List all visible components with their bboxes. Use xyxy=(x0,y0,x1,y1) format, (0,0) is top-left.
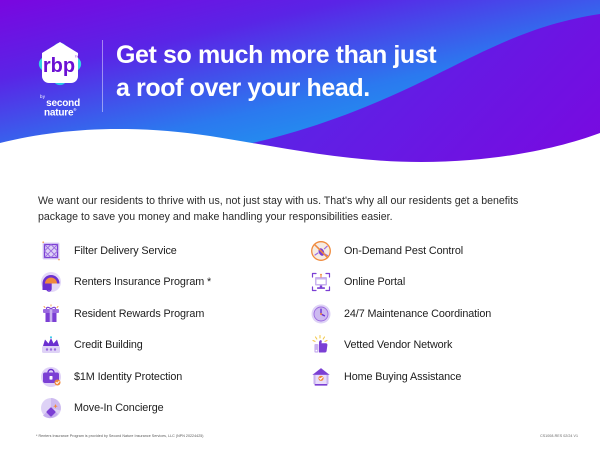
gift-icon xyxy=(38,301,64,327)
benefit-item-vetted-vendor-network: Vetted Vendor Network xyxy=(308,330,578,362)
benefit-label: Online Portal xyxy=(344,276,405,288)
intro-paragraph: We want our residents to thrive with us,… xyxy=(38,193,558,225)
benefit-label: Filter Delivery Service xyxy=(74,245,177,257)
footnote-disclaimer: * Renters Insurance Program is provided … xyxy=(36,434,204,438)
benefits-list: Filter Delivery Service Renters Insuranc… xyxy=(38,235,578,424)
rbp-logo: rbp ™ bysecond nature® xyxy=(28,36,92,112)
headline-line-2: a roof over your head. xyxy=(116,73,436,104)
benefit-item-credit-building: Credit Building xyxy=(38,330,308,362)
benefit-item-pest-control: On-Demand Pest Control xyxy=(308,235,578,267)
umbrella-icon xyxy=(38,269,64,295)
benefit-item-filter-delivery-service: Filter Delivery Service xyxy=(38,235,308,267)
benefit-label: $1M Identity Protection xyxy=(74,371,182,383)
benefit-item-home-buying-assistance: Home Buying Assistance xyxy=(308,361,578,393)
monitor-icon xyxy=(308,269,334,295)
benefit-item-resident-rewards-program: Resident Rewards Program xyxy=(38,298,308,330)
benefit-label: Home Buying Assistance xyxy=(344,371,461,383)
document-code: CS1008-RES 02/24 V1 xyxy=(540,434,578,438)
content-area: We want our residents to thrive with us,… xyxy=(0,185,600,450)
svg-text:rbp: rbp xyxy=(43,55,75,77)
crown-icon xyxy=(38,332,64,358)
benefit-label: Resident Rewards Program xyxy=(74,308,204,320)
benefit-item-online-portal: Online Portal xyxy=(308,267,578,299)
hero-vertical-divider xyxy=(102,40,103,112)
benefit-label: Move-In Concierge xyxy=(74,402,164,414)
rbp-logo-mark: rbp ™ xyxy=(32,36,88,92)
benefits-left-column: Filter Delivery Service Renters Insuranc… xyxy=(38,235,308,424)
logo-by-label: by xyxy=(40,95,45,100)
benefits-right-column: On-Demand Pest Control xyxy=(308,235,578,424)
benefit-label: 24/7 Maintenance Coordination xyxy=(344,308,491,320)
house-icon xyxy=(308,364,334,390)
benefit-label: Credit Building xyxy=(74,339,143,351)
headline-line-1: Get so much more than just xyxy=(116,40,436,71)
benefit-item-renters-insurance-program: Renters Insurance Program * xyxy=(38,267,308,299)
clock-icon xyxy=(308,301,334,327)
filter-grid-icon xyxy=(38,238,64,264)
hero-banner: rbp ™ bysecond nature® Get so much more … xyxy=(0,0,600,180)
no-pest-icon xyxy=(308,238,334,264)
benefit-label: Vetted Vendor Network xyxy=(344,339,452,351)
hero-headline: Get so much more than just a roof over y… xyxy=(116,40,436,103)
rbp-badge-icon: rbp ™ xyxy=(32,36,88,92)
thumbs-up-icon xyxy=(308,332,334,358)
benefit-label: Renters Insurance Program * xyxy=(74,276,211,288)
benefit-item-identity-protection: $1M Identity Protection xyxy=(38,361,308,393)
benefit-label: On-Demand Pest Control xyxy=(344,245,463,257)
svg-text:™: ™ xyxy=(75,55,80,61)
benefit-item-move-in-concierge: Move-In Concierge xyxy=(38,393,308,425)
logo-nature-label: nature® xyxy=(28,108,92,118)
briefcase-lock-icon xyxy=(38,364,64,390)
moving-box-icon xyxy=(38,395,64,421)
rbp-benefits-flyer: rbp ™ bysecond nature® Get so much more … xyxy=(0,0,600,450)
benefit-item-maintenance-coordination: 24/7 Maintenance Coordination xyxy=(308,298,578,330)
rbp-logo-subtitle: bysecond nature® xyxy=(28,94,92,118)
